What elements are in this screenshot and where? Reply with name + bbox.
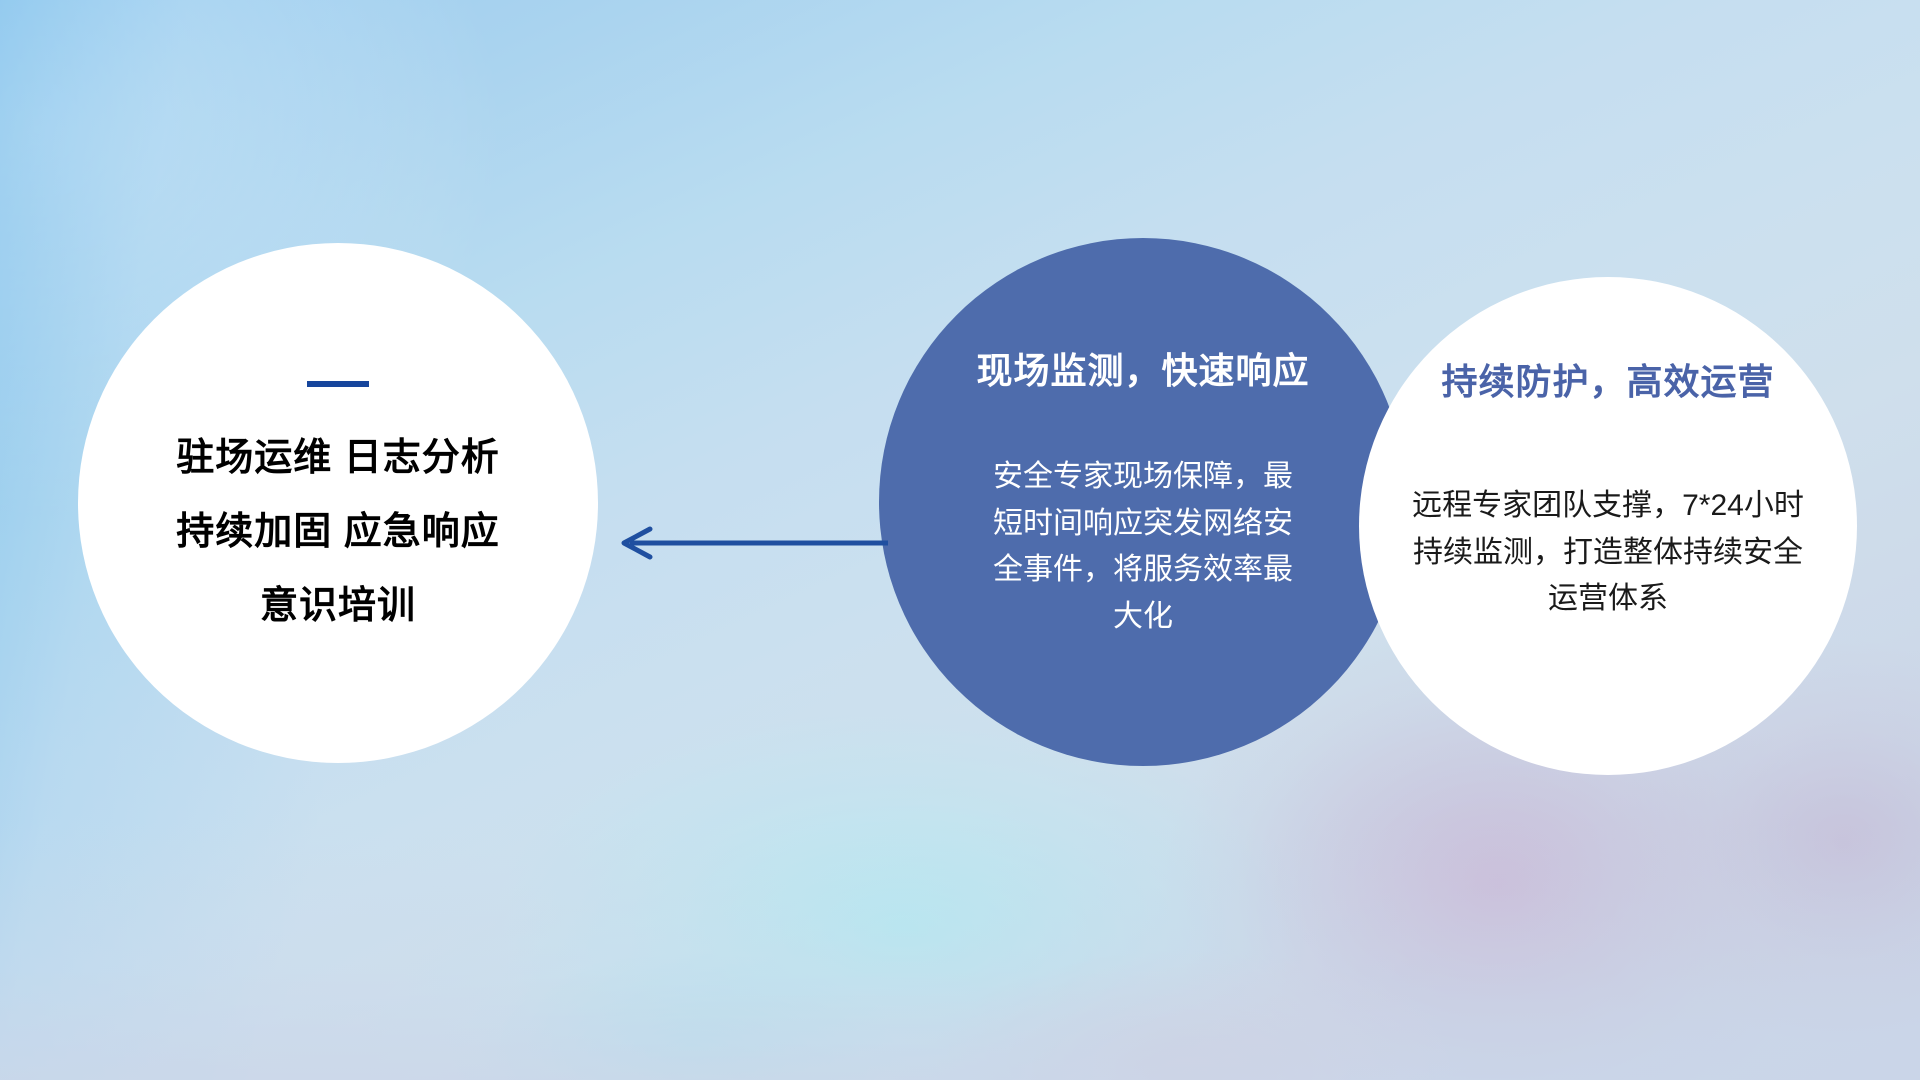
left-card-line-3: 意识培训 — [260, 587, 416, 625]
middle-card-title: 现场监测，快速响应 — [976, 342, 1309, 394]
middle-card[interactable]: 现场监测，快速响应 安全专家现场保障，最短时间响应突发网络安全事件，将服务效率最… — [879, 238, 1407, 766]
right-card-title: 持续防护，高效运营 — [1441, 353, 1774, 405]
arrow-left-icon — [606, 525, 888, 561]
horizontal-rule-icon — [307, 381, 369, 387]
right-card-body: 远程专家团队支撑，7*24小时持续监测，打造整体持续安全运营体系 — [1403, 483, 1813, 623]
left-card-line-1: 驻场运维 日志分析 — [176, 439, 500, 477]
middle-card-body: 安全专家现场保障，最短时间响应突发网络安全事件，将服务效率最大化 — [993, 454, 1293, 640]
left-card-line-2: 持续加固 应急响应 — [176, 513, 500, 551]
left-card[interactable]: 驻场运维 日志分析 持续加固 应急响应 意识培训 — [78, 243, 598, 763]
slide-canvas: 驻场运维 日志分析 持续加固 应急响应 意识培训 现场监测，快速响应 安全专家现… — [0, 0, 1920, 1080]
right-card[interactable]: 持续防护，高效运营 远程专家团队支撑，7*24小时持续监测，打造整体持续安全运营… — [1359, 277, 1857, 775]
